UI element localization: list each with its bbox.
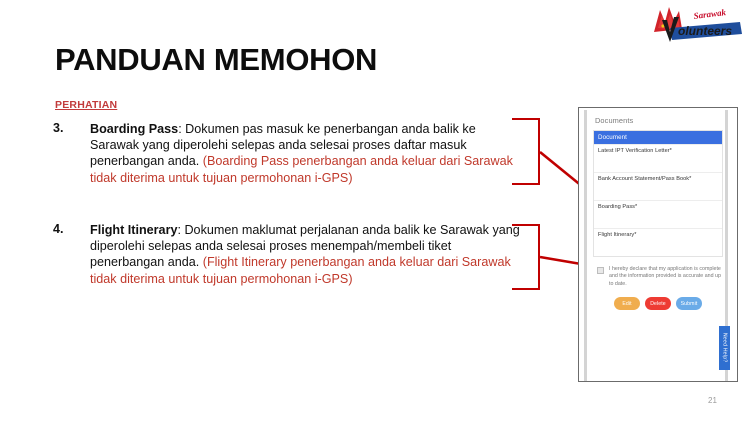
documents-form: Documents Document Latest IPT Verificati… [593, 112, 723, 379]
declaration-checkbox[interactable] [597, 267, 604, 274]
phone-form-mockup: Documents Document Latest IPT Verificati… [578, 107, 738, 382]
table-column-header-document: Document [594, 131, 722, 144]
doc-label: Bank Account Statement/Pass Book [598, 176, 689, 182]
edit-button[interactable]: Edit [614, 297, 640, 310]
required-marker: * [689, 176, 691, 182]
required-marker: * [635, 204, 637, 210]
declaration-row: I hereby declare that my application is … [593, 266, 723, 288]
table-row-flight-itinerary[interactable]: Flight Itinerary* [594, 228, 722, 256]
required-marker: * [670, 148, 672, 154]
slide-canvas: olunteers Sarawak PANDUAN MEMOHON PERHAT… [0, 0, 750, 422]
form-actions: Edit Delete Submit [593, 297, 723, 310]
need-help-tab[interactable]: Need Help? [719, 326, 730, 370]
scrollbar-left[interactable] [584, 110, 587, 381]
doc-label: Boarding Pass [598, 204, 635, 210]
delete-button[interactable]: Delete [645, 297, 671, 310]
table-row[interactable]: Latest IPT Verification Letter* [594, 144, 722, 172]
table-row[interactable]: Bank Account Statement/Pass Book* [594, 172, 722, 200]
declaration-text: I hereby declare that my application is … [609, 266, 721, 288]
table-row-boarding-pass[interactable]: Boarding Pass* [594, 200, 722, 228]
documents-table: Document Latest IPT Verification Letter*… [593, 130, 723, 257]
form-heading: Documents [593, 112, 723, 130]
required-marker: * [634, 232, 636, 238]
page-number: 21 [708, 396, 717, 405]
doc-label: Latest IPT Verification Letter [598, 148, 670, 154]
submit-button[interactable]: Submit [676, 297, 702, 310]
doc-label: Flight Itinerary [598, 232, 634, 238]
